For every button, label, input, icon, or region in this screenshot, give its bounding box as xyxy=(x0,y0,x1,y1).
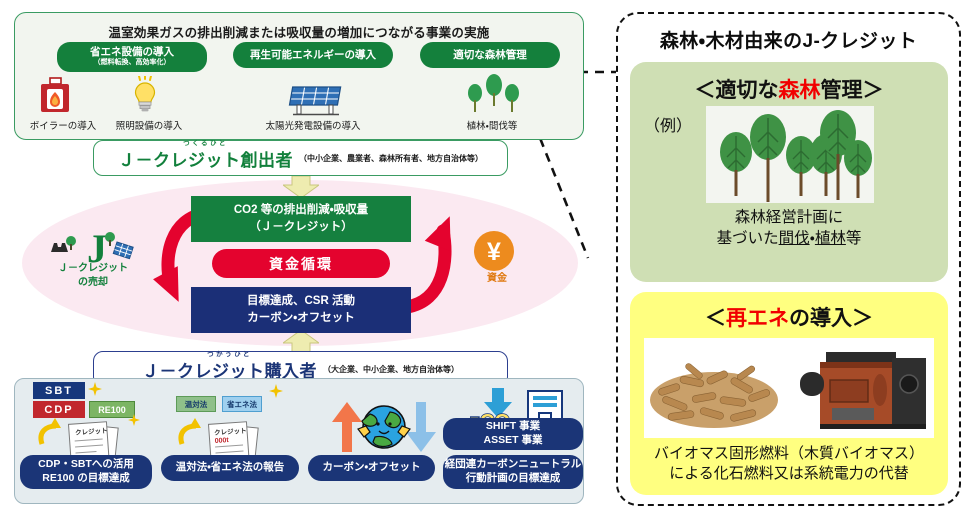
forest-heading-highlight: 森林 xyxy=(779,79,821,102)
forest-caption-line1: 森林経営計画に xyxy=(630,208,948,229)
right-panel-title: 森林・木材由来のJ-クレジット xyxy=(618,26,959,53)
forest-heading-a: ＜適切な xyxy=(695,79,779,102)
trees-icon xyxy=(465,74,523,121)
forest-caption-prefix: 基づいた xyxy=(717,230,779,247)
purchaser-ruby: つかうひと xyxy=(207,348,252,358)
forest-heading: ＜適切な森林管理＞ xyxy=(630,74,948,104)
creator-title: つくるひと Ｊ－クレジット創出者 xyxy=(118,146,293,171)
tag-ondanka-law: 温対法 xyxy=(176,396,216,412)
chevron-down-icon xyxy=(283,176,319,198)
renew-caption-line1: バイオマス固形燃料（木質バイオマス） xyxy=(630,444,948,464)
use-line1: カーボン・オフセット xyxy=(322,461,420,475)
forest-example-label: （例） xyxy=(644,112,692,136)
activity-pill-renewable-energy[interactable]: 再生可能エネルギーの導入 xyxy=(233,42,393,68)
use-pill-cdp-sbt[interactable]: CDP・SBTへの活用 RE100 の目標達成 xyxy=(20,455,152,489)
use-line1: 経団連カーボンニュートラル xyxy=(445,458,582,472)
caption-boiler: ボイラーの導入 xyxy=(18,118,108,132)
caption-lighting: 照明設備の導入 xyxy=(104,118,194,132)
pill-sublabel: （燃料転換、高効率化） xyxy=(94,59,171,67)
creator-main-text: Ｊ－クレジット創出者 xyxy=(118,151,293,170)
renew-heading-highlight: 再エネ xyxy=(726,307,789,330)
sale-line1: Ｊ－クレジット xyxy=(38,262,148,276)
tag-sbt: SBT xyxy=(33,382,85,399)
caption-solar: 太陽光発電設備の導入 xyxy=(228,118,398,132)
tag-energy-saving-law: 省エネ法 xyxy=(222,396,262,412)
forest-trees-photo xyxy=(706,106,874,203)
use-pill-carbon-offset[interactable]: カーボン・オフセット xyxy=(308,455,435,481)
funds-label: 資金循環 xyxy=(269,254,333,274)
renewable-energy-card: ＜再エネの導入＞ xyxy=(630,292,948,495)
credit-sale-label: Ｊ－クレジット の売却 xyxy=(38,262,148,289)
use-line2: RE100 の目標達成 xyxy=(42,472,130,486)
pill-label: 再生可能エネルギーの導入 xyxy=(250,49,376,61)
svg-text:000t: 000t xyxy=(214,437,229,445)
activity-pill-energy-saving[interactable]: 省エネ設備の導入 （燃料転換、高効率化） xyxy=(57,42,207,72)
renew-heading-b: の導入＞ xyxy=(789,307,873,330)
credit-box-line2: （Ｊ－クレジット） xyxy=(249,219,353,236)
buyer-goals-box: 目標達成、CSR 活動 カーボン・オフセット xyxy=(191,287,411,333)
j-credit-flow-diagram: 温室効果ガスの排出削減または吸収量の増加につながる事業の実施 省エネ設備の導入 … xyxy=(0,0,612,517)
svg-text:¥: ¥ xyxy=(487,238,501,266)
chevron-up-icon xyxy=(283,330,319,352)
earth-offset-icon xyxy=(330,396,438,457)
goals-box-line2: カーボン・オフセット xyxy=(247,310,354,327)
sale-line2: の売却 xyxy=(38,276,148,290)
forest-management-card: ＜適切な森林管理＞ （例） xyxy=(630,62,948,282)
wood-pellets-photo xyxy=(646,342,782,434)
funds-circulation-badge: 資金循環 xyxy=(212,249,390,278)
use-line2: 行動計画の目標達成 xyxy=(466,472,561,486)
boiler-icon xyxy=(38,77,72,118)
forest-wood-credit-panel: 森林・木材由来のJ-クレジット ＜適切な森林管理＞ （例） xyxy=(616,12,961,506)
creator-subtitle: （中小企業、農業者、森林所有者、地方自治体等） xyxy=(299,153,483,164)
pill-label: 省エネ設備の導入 xyxy=(90,46,174,58)
use-pill-keidanren[interactable]: 経団連カーボンニュートラル 行動計画の目標達成 xyxy=(443,455,583,489)
forest-caption: 森林経営計画に 基づいた間伐・植林等 xyxy=(630,208,948,250)
shift-asset-badge: SHIFT 事業 ASSET 事業 xyxy=(443,418,583,450)
activities-title: 温室効果ガスの排出削減または吸収量の増加につながる事業の実施 xyxy=(15,22,583,41)
credit-amount-box: CO2 等の排出削減・吸収量 （Ｊ－クレジット） xyxy=(191,196,411,242)
biomass-boiler-photo xyxy=(790,342,932,434)
renew-heading: ＜再エネの導入＞ xyxy=(630,302,948,332)
sparkle-icon xyxy=(128,414,140,426)
use-pill-legal-report[interactable]: 温対法・省エネ法の報告 xyxy=(161,455,299,481)
forest-caption-thinning: 間伐 xyxy=(779,230,810,247)
tag-cdp: CDP xyxy=(33,401,85,418)
renew-caption-line2: による化石燃料又は系統電力の代替 xyxy=(630,464,948,484)
forest-heading-b: 管理＞ xyxy=(821,79,884,102)
yen-coin-icon: ¥ xyxy=(473,230,515,277)
purchaser-subtitle: （大企業、中小企業、地方自治体等） xyxy=(323,364,459,375)
forest-caption-line2: 基づいた間伐・植林等 xyxy=(630,229,948,250)
renew-caption: バイオマス固形燃料（木質バイオマス） による化石燃料又は系統電力の代替 xyxy=(630,444,948,485)
renew-heading-a: ＜ xyxy=(705,307,726,330)
use-line1: CDP・SBTへの活用 xyxy=(38,458,134,472)
pill-label: 適切な森林管理 xyxy=(453,49,527,61)
lightbulb-icon xyxy=(128,76,162,119)
goals-box-line1: 目標達成、CSR 活動 xyxy=(247,293,355,310)
sparkle-icon xyxy=(269,384,283,398)
shift-line2: ASSET 事業 xyxy=(484,434,543,448)
caption-planting: 植林・間伐等 xyxy=(432,118,552,132)
credit-box-line1: CO2 等の排出削減・吸収量 xyxy=(234,202,368,219)
activity-pill-forest-management[interactable]: 適切な森林管理 xyxy=(420,42,560,68)
credit-creator-bar: つくるひと Ｊ－クレジット創出者 （中小企業、農業者、森林所有者、地方自治体等） xyxy=(93,140,508,176)
forest-caption-planting: 植林 xyxy=(815,230,846,247)
forest-caption-suffix: 等 xyxy=(846,230,862,247)
shift-line1: SHIFT 事業 xyxy=(486,420,540,434)
use-line1: 温対法・省エネ法の報告 xyxy=(176,461,285,475)
sparkle-icon xyxy=(88,382,102,396)
biomass-photos xyxy=(644,338,934,438)
funds-label-right: 資金 xyxy=(462,272,532,286)
creator-ruby: つくるひと xyxy=(183,137,228,147)
